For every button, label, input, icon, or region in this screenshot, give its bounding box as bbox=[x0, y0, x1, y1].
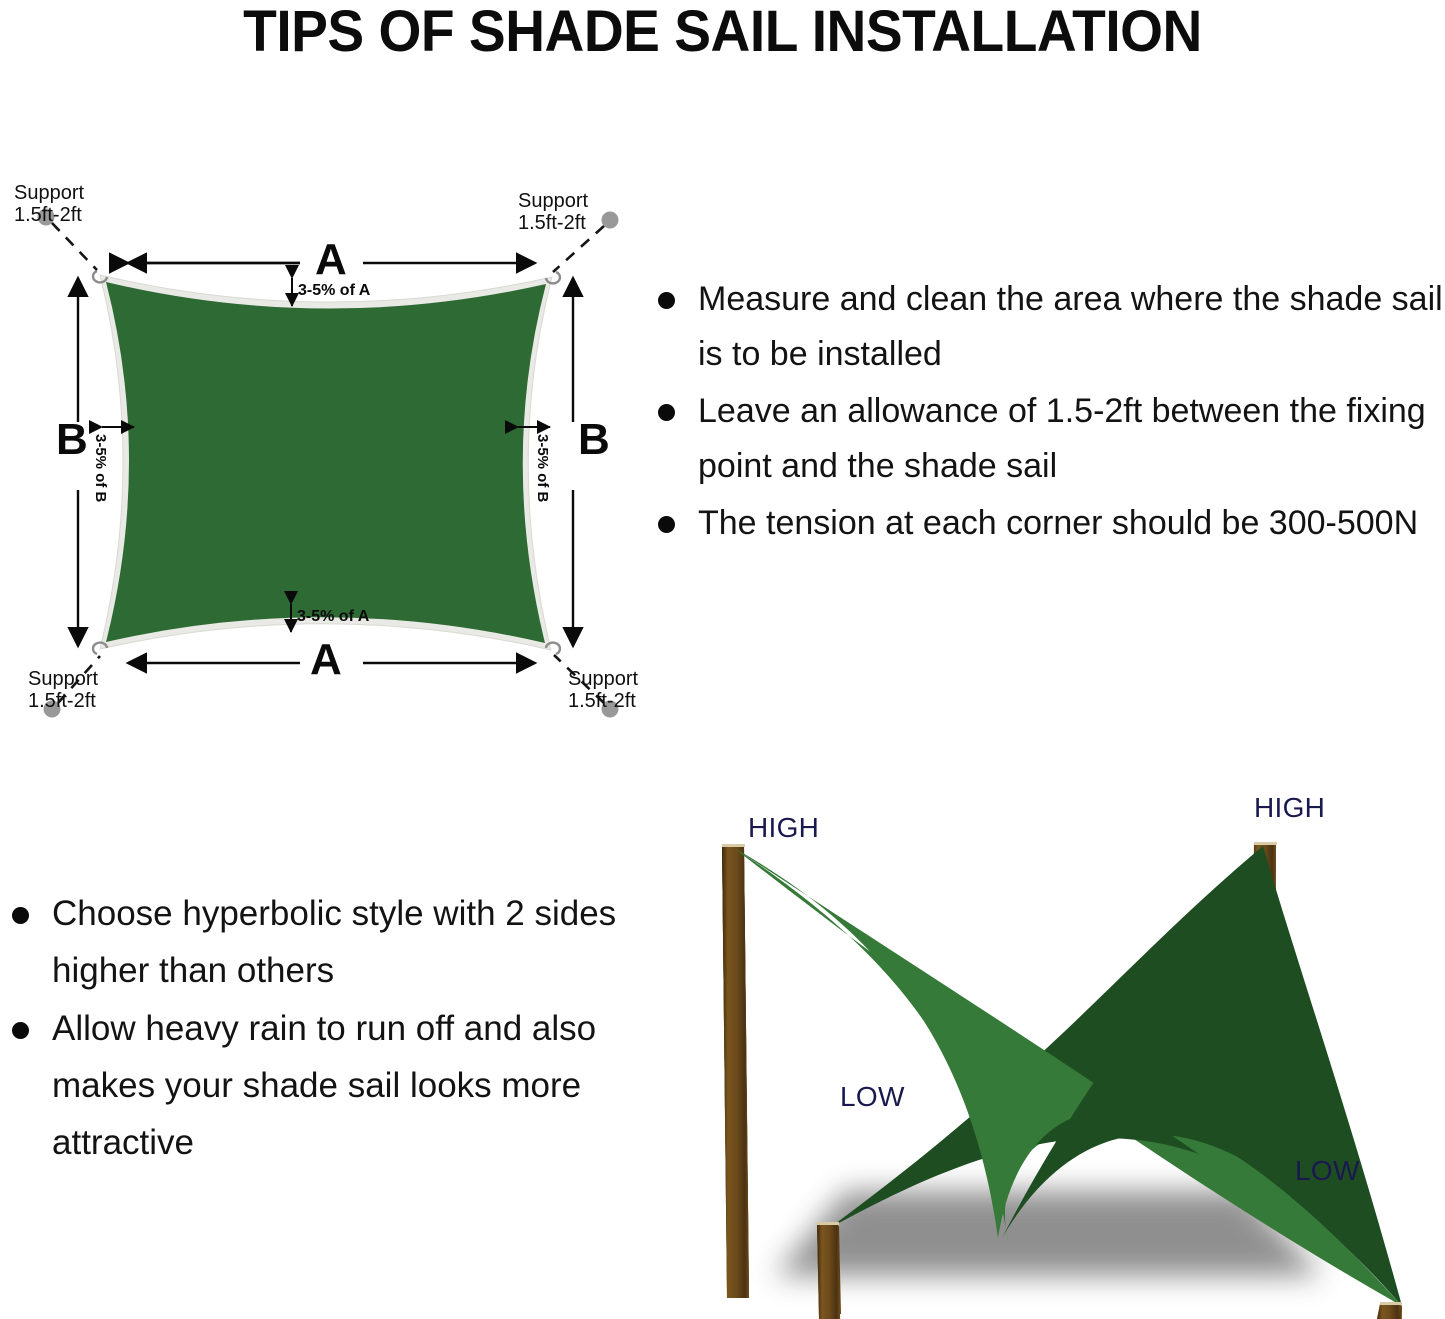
post-low-right-front bbox=[1377, 1304, 1401, 1319]
curvature-label-top: 3-5% of A bbox=[298, 282, 370, 300]
list-item: Measure and clean the area where the sha… bbox=[648, 272, 1445, 382]
support-label-line2: 1.5ft-2ft bbox=[28, 690, 98, 712]
list-item: Allow heavy rain to run off and also mak… bbox=[6, 1001, 626, 1171]
sail-fabric bbox=[106, 282, 546, 643]
post-low-left-front bbox=[817, 1224, 840, 1319]
installation-tips-right: Measure and clean the area where the sha… bbox=[648, 272, 1445, 553]
bullet-dot-icon bbox=[658, 516, 675, 533]
hyperbolic-diagram-graphics bbox=[650, 786, 1445, 1319]
bullet-dot-icon bbox=[12, 1022, 29, 1039]
bullet-dot-icon bbox=[658, 404, 675, 421]
label-high-left: HIGH bbox=[748, 812, 819, 844]
dimension-letter-b-right: B bbox=[578, 418, 610, 462]
dimension-letter-a-bottom: A bbox=[310, 638, 342, 682]
list-item: The tension at each corner should be 300… bbox=[648, 496, 1445, 551]
support-label-line2: 1.5ft-2ft bbox=[518, 212, 588, 234]
list-item-text: Allow heavy rain to run off and also mak… bbox=[52, 1009, 596, 1161]
curvature-label-right: 3-5% of B bbox=[534, 434, 551, 502]
label-low-right: LOW bbox=[1295, 1155, 1360, 1187]
support-label-top-right: Support 1.5ft-2ft bbox=[518, 190, 588, 235]
rectangular-sail-diagram: Support 1.5ft-2ft Support 1.5ft-2ft Supp… bbox=[0, 160, 650, 730]
support-dot-top-right bbox=[602, 212, 619, 229]
tips-list-left: Choose hyperbolic style with 2 sides hig… bbox=[6, 886, 626, 1171]
support-label-line2: 1.5ft-2ft bbox=[14, 204, 84, 226]
bullet-dot-icon bbox=[12, 907, 29, 924]
curvature-label-left: 3-5% of B bbox=[92, 434, 109, 502]
support-label-line2: 1.5ft-2ft bbox=[568, 690, 638, 712]
list-item: Choose hyperbolic style with 2 sides hig… bbox=[6, 886, 626, 999]
infographic-page: TIPS OF SHADE SAIL INSTALLATION bbox=[0, 0, 1445, 1319]
post-1-high-left bbox=[722, 846, 749, 1286]
dimension-letter-b-left: B bbox=[56, 418, 88, 462]
dimension-letter-a-top: A bbox=[315, 238, 347, 282]
support-label-line1: Support bbox=[28, 668, 98, 690]
support-label-line1: Support bbox=[518, 190, 588, 212]
support-label-bottom-right: Support 1.5ft-2ft bbox=[568, 668, 638, 713]
support-label-bottom-left: Support 1.5ft-2ft bbox=[28, 668, 98, 713]
list-item-text: Choose hyperbolic style with 2 sides hig… bbox=[52, 894, 616, 990]
list-item-text: Measure and clean the area where the sha… bbox=[698, 280, 1443, 373]
installation-tips-left: Choose hyperbolic style with 2 sides hig… bbox=[6, 886, 626, 1173]
support-label-line1: Support bbox=[568, 668, 638, 690]
page-title: TIPS OF SHADE SAIL INSTALLATION bbox=[36, 0, 1409, 62]
bullet-dot-icon bbox=[658, 292, 675, 309]
list-item-text: The tension at each corner should be 300… bbox=[698, 504, 1418, 542]
tips-list-right: Measure and clean the area where the sha… bbox=[648, 272, 1445, 551]
hyperbolic-sail-diagram: HIGH HIGH LOW LOW bbox=[650, 786, 1445, 1319]
list-item: Leave an allowance of 1.5-2ft between th… bbox=[648, 384, 1445, 494]
support-label-line1: Support bbox=[14, 182, 84, 204]
label-high-right: HIGH bbox=[1254, 792, 1325, 824]
label-low-left: LOW bbox=[840, 1081, 905, 1113]
curvature-label-bottom: 3-5% of A bbox=[297, 608, 369, 626]
support-label-top-left: Support 1.5ft-2ft bbox=[14, 182, 84, 227]
list-item-text: Leave an allowance of 1.5-2ft between th… bbox=[698, 392, 1426, 485]
